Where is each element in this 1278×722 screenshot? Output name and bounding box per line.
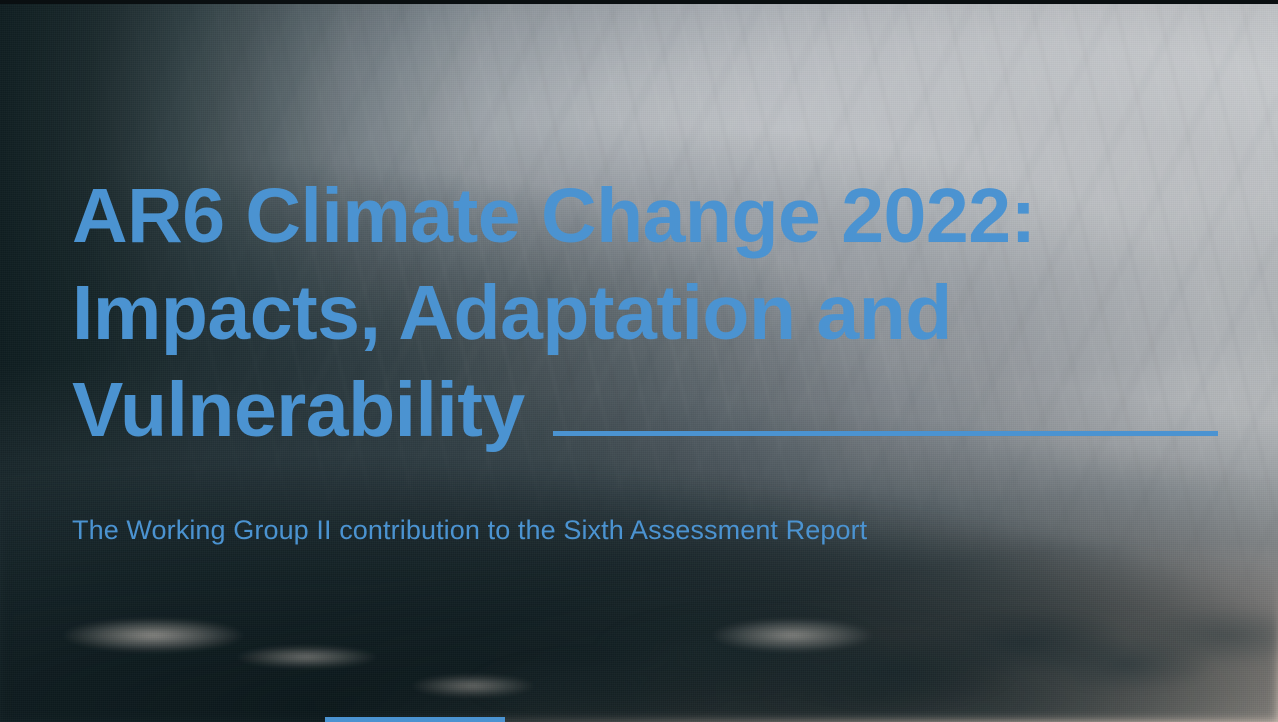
cover-content: AR6 Climate Change 2022: Impacts, Adapta… [0,0,1278,722]
title-line-1: AR6 Climate Change 2022: [72,168,1212,265]
title-underline-rule [553,431,1218,436]
title-line-3: Vulnerability [72,362,525,459]
cover-title-block: AR6 Climate Change 2022: Impacts, Adapta… [72,168,1212,459]
title-line-3-row: Vulnerability [72,362,1212,459]
cover-subtitle: The Working Group II contribution to the… [72,512,867,548]
report-cover: AR6 Climate Change 2022: Impacts, Adapta… [0,0,1278,722]
bottom-accent-bar [325,717,505,722]
title-line-2: Impacts, Adaptation and [72,265,1212,362]
